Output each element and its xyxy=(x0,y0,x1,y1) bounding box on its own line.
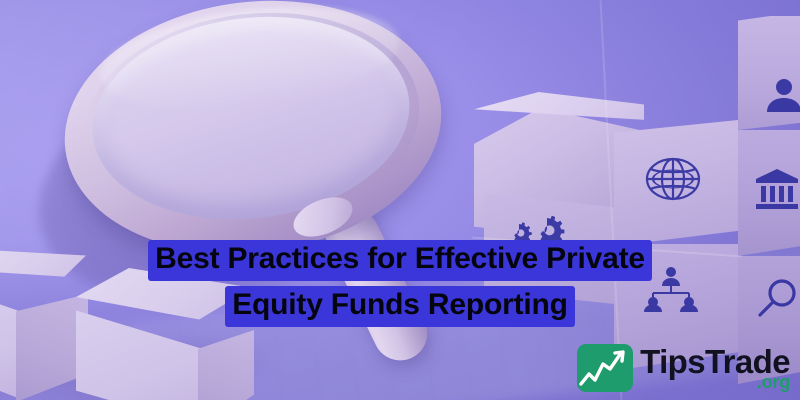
bank-icon xyxy=(754,168,800,210)
title-line-1-row: Best Practices for Effective Private xyxy=(0,240,800,281)
title-line-2-row: Equity Funds Reporting xyxy=(0,286,800,327)
block-stack xyxy=(480,0,800,400)
growth-chart-icon xyxy=(577,344,633,392)
title-line-2: Equity Funds Reporting xyxy=(225,286,575,327)
block-bank xyxy=(738,130,800,256)
globe-icon xyxy=(644,156,702,202)
person-icon xyxy=(764,78,800,112)
logo-text: TipsTrade .org xyxy=(640,345,790,391)
banner-image: Best Practices for Effective Private Equ… xyxy=(0,0,800,400)
title-line-1: Best Practices for Effective Private xyxy=(148,240,652,281)
banner-title: Best Practices for Effective Private Equ… xyxy=(0,240,800,332)
block-globe xyxy=(614,120,738,246)
site-logo[interactable]: TipsTrade .org xyxy=(577,344,790,392)
block-person xyxy=(738,16,800,130)
cube-right-face xyxy=(198,330,254,400)
